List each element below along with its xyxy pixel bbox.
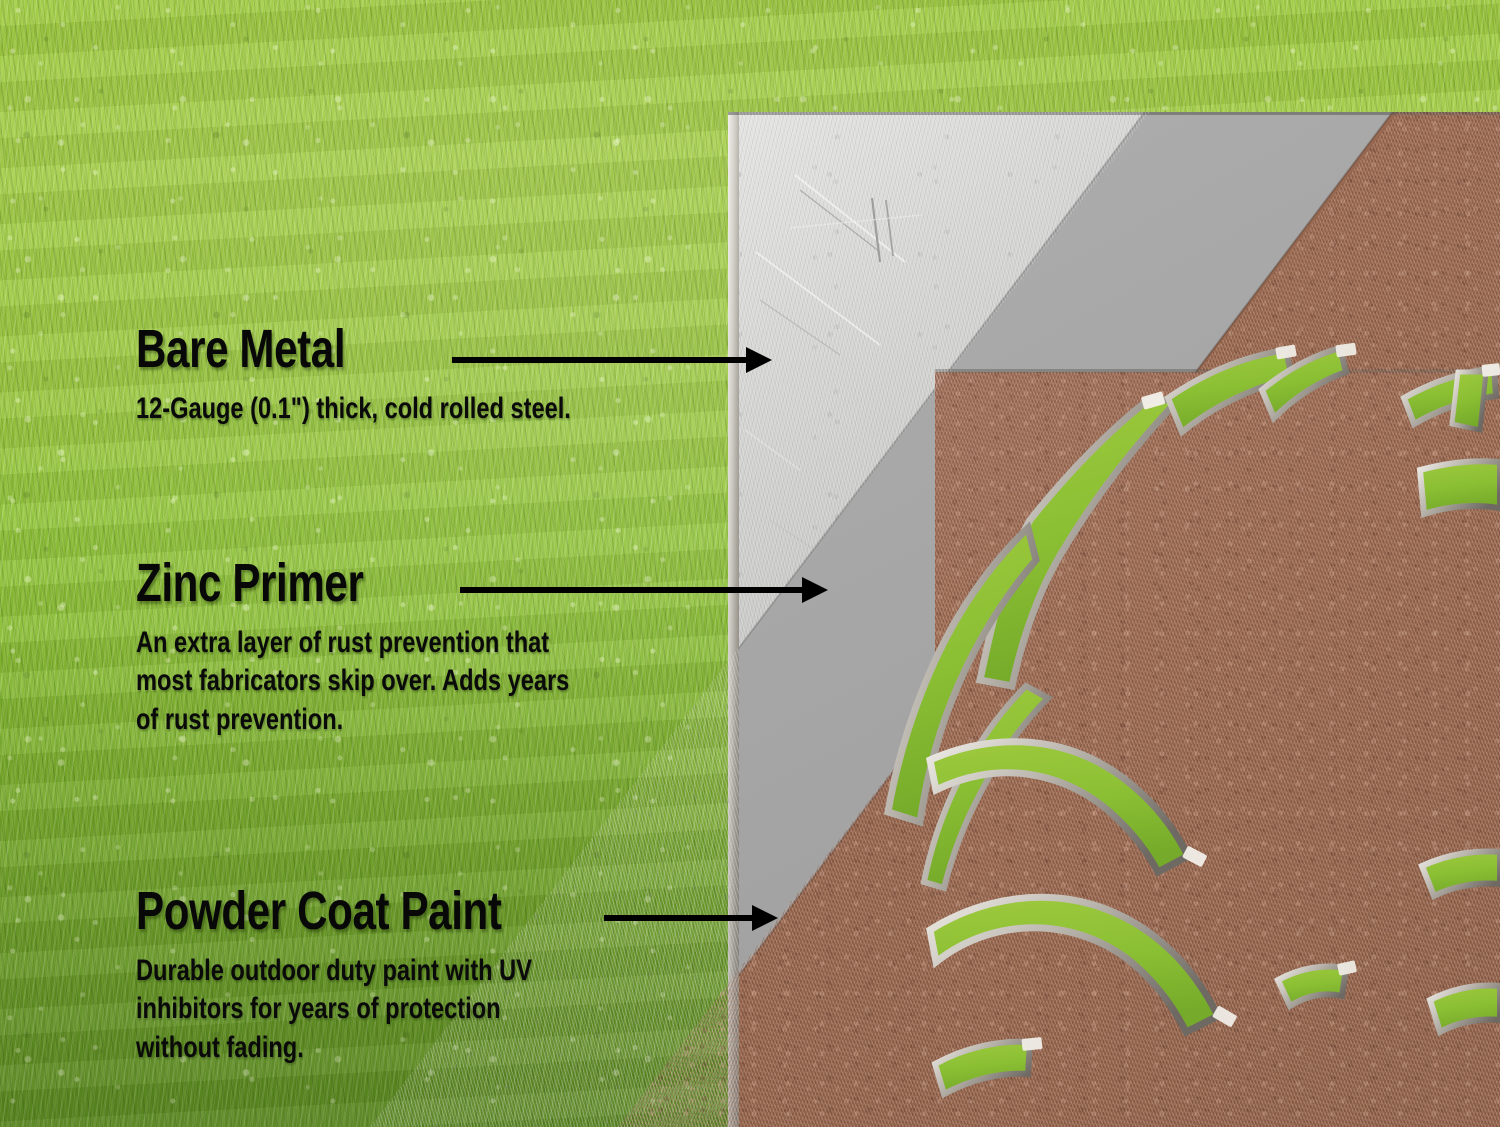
callout-bare-metal-body: 12-Gauge (0.1") thick, cold rolled steel… <box>136 390 696 428</box>
infographic-canvas: Bare Metal 12-Gauge (0.1") thick, cold r… <box>0 0 1500 1127</box>
callout-arrow-zinc-primer <box>460 577 828 603</box>
callout-zinc-primer-body-line-1: An extra layer of rust prevention that <box>136 624 696 662</box>
callout-powder-coat-body-line-2: inhibitors for years of protection <box>136 990 696 1028</box>
callout-zinc-primer-body-line-2: most fabricators skip over. Adds years <box>136 662 696 700</box>
callout-bare-metal: Bare Metal 12-Gauge (0.1") thick, cold r… <box>136 322 836 428</box>
panel-lower-section <box>930 366 1500 1127</box>
callout-powder-coat-body-line-1: Durable outdoor duty paint with UV <box>136 952 696 990</box>
panel-notch-edge <box>935 369 1500 373</box>
callout-bare-metal-body-line-1: 12-Gauge (0.1") thick, cold rolled steel… <box>136 390 696 428</box>
layer-powder-coat-lower <box>930 366 1500 1127</box>
callout-zinc-primer-body: An extra layer of rust prevention that m… <box>136 624 696 739</box>
callout-arrow-powder-coat <box>604 905 778 931</box>
callout-powder-coat-heading: Powder Coat Paint <box>136 884 682 938</box>
callout-zinc-primer-body-line-3: of rust prevention. <box>136 701 696 739</box>
callout-powder-coat-body: Durable outdoor duty paint with UV inhib… <box>136 952 696 1067</box>
callout-arrow-bare-metal <box>452 347 772 373</box>
callout-powder-coat-body-line-3: without fading. <box>136 1029 696 1067</box>
panel-top-cut-edge <box>728 112 1500 115</box>
